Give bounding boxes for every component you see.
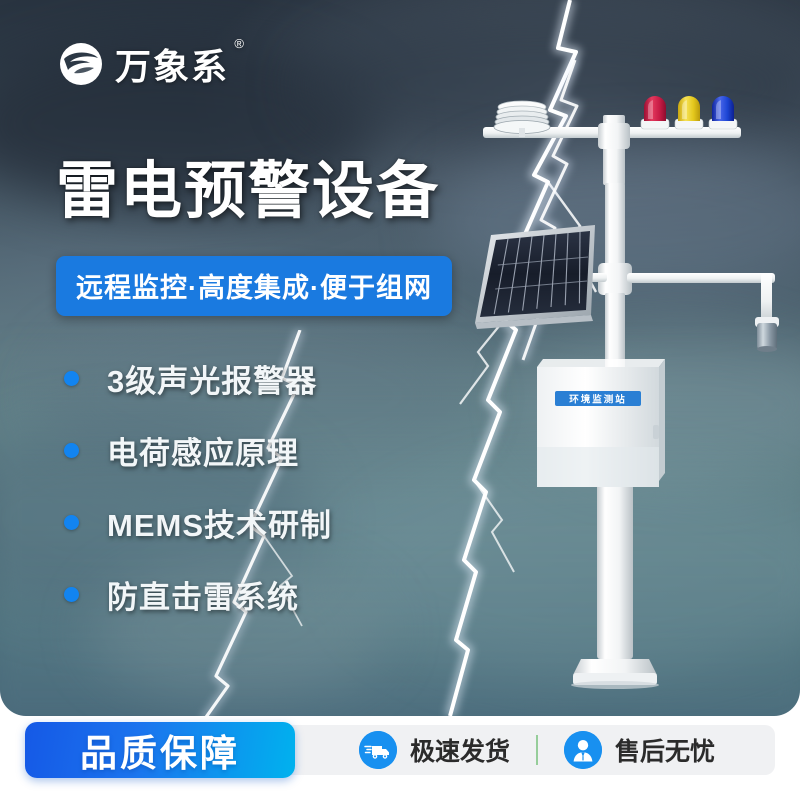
- trust-items-tray: 极速发货 售后无忧: [281, 725, 775, 775]
- blue-alarm-beacon: [709, 96, 737, 129]
- trust-bar: 品质保障: [25, 722, 775, 778]
- feature-label: MEMS技术研制: [107, 500, 332, 545]
- control-box-label: 环境监测站: [569, 394, 627, 406]
- bullet-dot-icon: [64, 587, 79, 602]
- page-title: 雷电预警设备: [56, 158, 440, 226]
- rain-sensor-arm: [627, 273, 779, 352]
- list-item: MEMS技术研制: [64, 492, 332, 552]
- subtitle-text: 远程监控·高度集成·便于组网: [76, 273, 432, 303]
- quality-guarantee-label: 品质保障: [80, 723, 240, 777]
- trust-item-label: 极速发货: [410, 732, 510, 768]
- control-box: 环境监测站: [537, 359, 665, 487]
- feature-label: 防直击雷系统: [107, 572, 299, 617]
- feature-label: 3级声光报警器: [107, 356, 317, 401]
- product-poster: 万象系® 雷电预警设备 远程监控·高度集成·便于组网 3级声光报警器 电荷感应原…: [0, 0, 800, 800]
- feature-label: 电荷感应原理: [107, 428, 299, 473]
- red-alarm-beacon: [641, 96, 669, 129]
- trust-item-aftersales[interactable]: 售后无忧: [564, 731, 715, 769]
- bullet-dot-icon: [64, 371, 79, 386]
- trademark-symbol: ®: [234, 36, 246, 51]
- delivery-truck-icon: [359, 731, 397, 769]
- brand-name-text: 万象系: [115, 46, 229, 87]
- list-item: 电荷感应原理: [64, 420, 332, 480]
- bullet-dot-icon: [64, 443, 79, 458]
- subtitle-banner: 远程监控·高度集成·便于组网: [56, 256, 452, 316]
- radiation-shield-sensor: [494, 101, 550, 137]
- list-item: 防直击雷系统: [64, 564, 332, 624]
- solar-panel: [475, 225, 595, 329]
- trust-divider: [536, 735, 538, 765]
- bullet-dot-icon: [64, 515, 79, 530]
- feature-list: 3级声光报警器 电荷感应原理 MEMS技术研制 防直击雷系统: [64, 348, 332, 636]
- swirl-cloud-logo-icon: [58, 41, 104, 87]
- brand-logo: 万象系®: [58, 38, 229, 90]
- trust-item-label: 售后无忧: [615, 732, 715, 768]
- list-item: 3级声光报警器: [64, 348, 332, 408]
- quality-guarantee-badge[interactable]: 品质保障: [25, 722, 295, 778]
- yellow-alarm-beacon: [675, 96, 703, 129]
- alarm-beacon-group: [641, 96, 737, 129]
- customer-service-person-icon: [564, 731, 602, 769]
- brand-name: 万象系®: [115, 38, 229, 90]
- box-latch-icon: [653, 425, 659, 439]
- trust-item-shipping[interactable]: 极速发货: [359, 731, 510, 769]
- product-image: 环境监测站: [455, 95, 800, 695]
